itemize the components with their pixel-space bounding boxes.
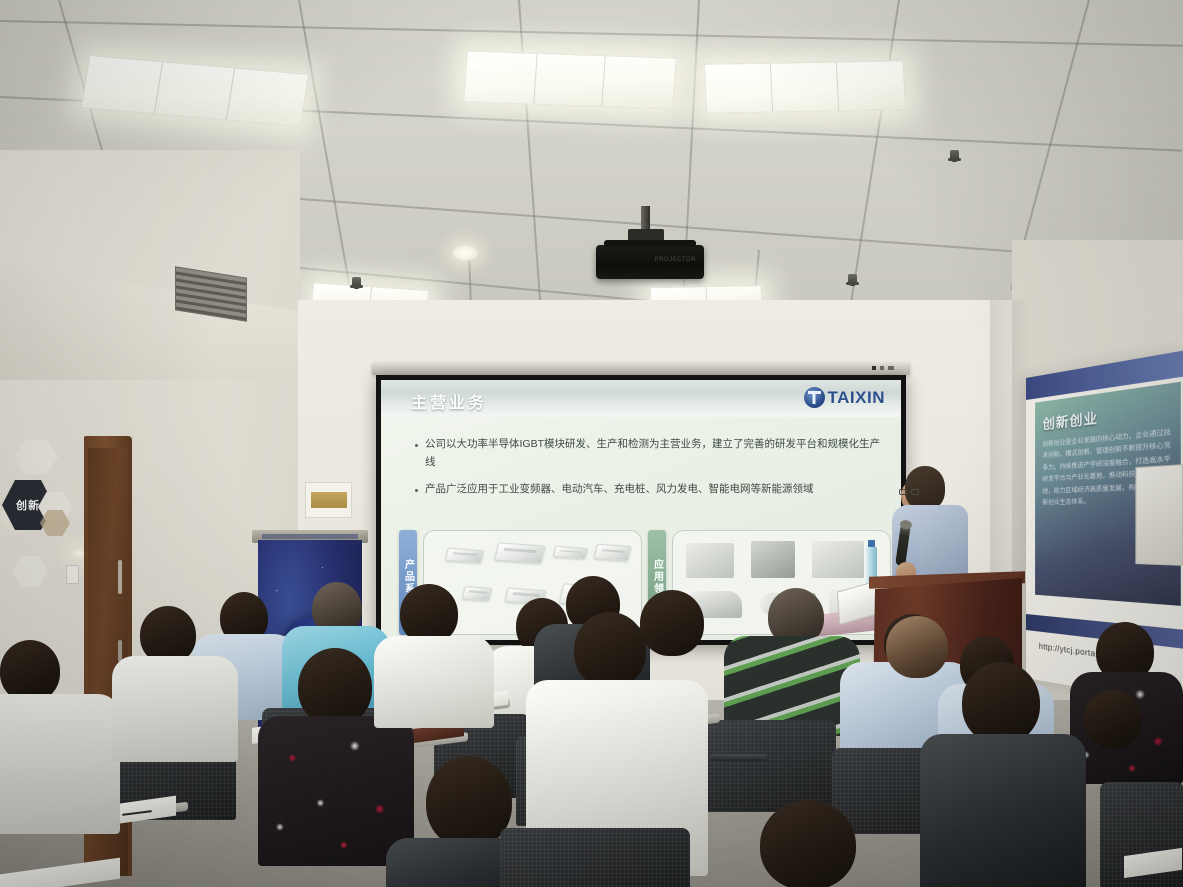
screen-roller-housing: [372, 362, 910, 375]
presentation-slide: 主营业务 TAIXIN 公司以大功率半导体IGBT模块研发、生产和检测为主营业务…: [381, 380, 901, 640]
ceiling-light-panel: [463, 50, 677, 109]
banner-cap: [262, 534, 358, 539]
framed-plaque: [305, 482, 352, 518]
audience-torso: [374, 636, 494, 728]
ceiling-downlight: [452, 245, 478, 261]
ceiling-light-panel: [81, 55, 310, 127]
office-chair[interactable]: [500, 828, 690, 887]
audience-head: [400, 584, 458, 644]
taixin-t-emblem-icon: [804, 387, 825, 408]
audience-head: [962, 662, 1040, 744]
audience-head: [1084, 690, 1142, 748]
industrial-inverter-image: [686, 543, 734, 578]
slide-bullet-list: 公司以大功率半导体IGBT模块研发、生产和检测为主营业务，建立了完善的研发平台和…: [415, 436, 883, 508]
bullet-dot-icon: [415, 489, 418, 492]
slide-brand-logo: TAIXIN: [804, 387, 885, 408]
audience-torso: [112, 656, 238, 762]
igbt-module-image: [594, 544, 632, 562]
bullet-text: 公司以大功率半导体IGBT模块研发、生产和检测为主营业务，建立了完善的研发平台和…: [425, 436, 883, 472]
hex-label: 创新: [16, 497, 40, 513]
bullet-dot-icon: [415, 444, 418, 447]
conference-room-photo: 创新 烟台财 Yantai Fin 创新创业 创新创业是企业发展的核心动力，企业…: [0, 0, 1183, 887]
slide-logo-wordmark: TAIXIN: [828, 388, 885, 408]
poster-url: http://ytcj.portal: [1039, 642, 1098, 659]
audience-torso: [920, 734, 1086, 887]
audience-head: [574, 612, 646, 688]
audience-head: [640, 590, 704, 656]
igbt-module-image: [444, 547, 484, 563]
igbt-module-image: [494, 543, 545, 564]
audience-head: [0, 640, 60, 702]
igbt-module-image: [553, 546, 588, 560]
factory-image: [751, 541, 794, 578]
office-chair[interactable]: [706, 720, 836, 812]
audience-head: [760, 800, 856, 887]
projector-label: PROJECTOR: [655, 257, 696, 263]
poster-heading: 创新创业: [1042, 407, 1098, 434]
sprinkler-head: [950, 150, 959, 162]
list-item: 产品广泛应用于工业变频器、电动汽车、充电桩、风力发电、智能电网等新能源领域: [415, 481, 883, 499]
ceiling-projector: PROJECTOR: [596, 245, 704, 279]
sprinkler-head: [352, 277, 361, 289]
door-handle[interactable]: [118, 560, 122, 594]
poster-photo: [1135, 464, 1183, 566]
glasses-icon: [899, 489, 921, 495]
presenter-head: [905, 466, 945, 510]
sprinkler-head: [848, 274, 857, 286]
list-item: 公司以大功率半导体IGBT模块研发、生产和检测为主营业务，建立了完善的研发平台和…: [415, 436, 883, 472]
bullet-text: 产品广泛应用于工业变频器、电动汽车、充电桩、风力发电、智能电网等新能源领域: [425, 481, 814, 499]
chair-armrest: [710, 754, 768, 761]
audience-head: [298, 648, 372, 726]
audience-head: [886, 616, 948, 678]
audience-torso: [258, 716, 414, 866]
ceiling-light-panel: [704, 60, 907, 113]
audience-torso: [0, 694, 120, 834]
charging-station-image: [812, 541, 864, 578]
igbt-module-image: [462, 586, 493, 601]
light-switch[interactable]: [66, 565, 79, 584]
slide-title: 主营业务: [411, 389, 487, 413]
